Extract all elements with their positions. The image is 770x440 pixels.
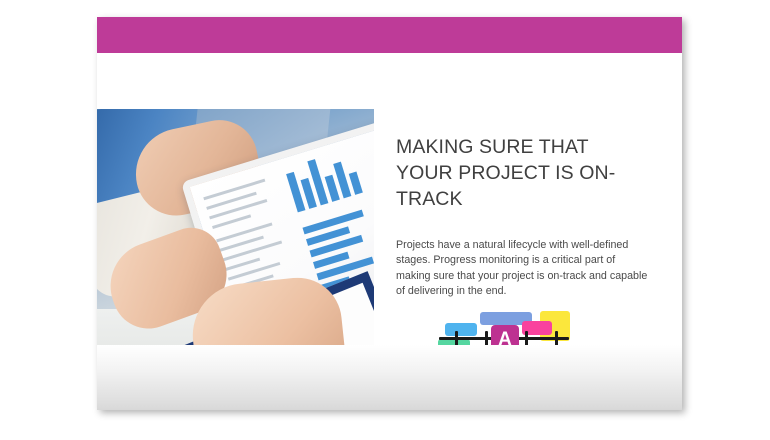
- timeline-tick-2: [485, 331, 488, 346]
- timeline-tick-1: [455, 331, 458, 346]
- screenshot-canvas: MAKING SURE THAT YOUR PROJECT IS ON-TRAC…: [0, 0, 770, 440]
- slide-header-bar: [97, 17, 682, 53]
- slide-footer-gradient: [97, 345, 682, 410]
- timeline-tick-3: [525, 331, 528, 346]
- slide-text-column: MAKING SURE THAT YOUR PROJECT IS ON-TRAC…: [396, 134, 648, 300]
- slide-body-text: Projects have a natural lifecycle with w…: [396, 212, 648, 300]
- timeline-tick-4: [555, 331, 558, 346]
- presentation-slide[interactable]: MAKING SURE THAT YOUR PROJECT IS ON-TRAC…: [97, 17, 682, 410]
- slide-content-area: MAKING SURE THAT YOUR PROJECT IS ON-TRAC…: [97, 53, 682, 345]
- slide-title: MAKING SURE THAT YOUR PROJECT IS ON-TRAC…: [396, 134, 648, 212]
- gantt-bar-blue-light: [445, 323, 477, 336]
- slide-photo: [97, 109, 374, 362]
